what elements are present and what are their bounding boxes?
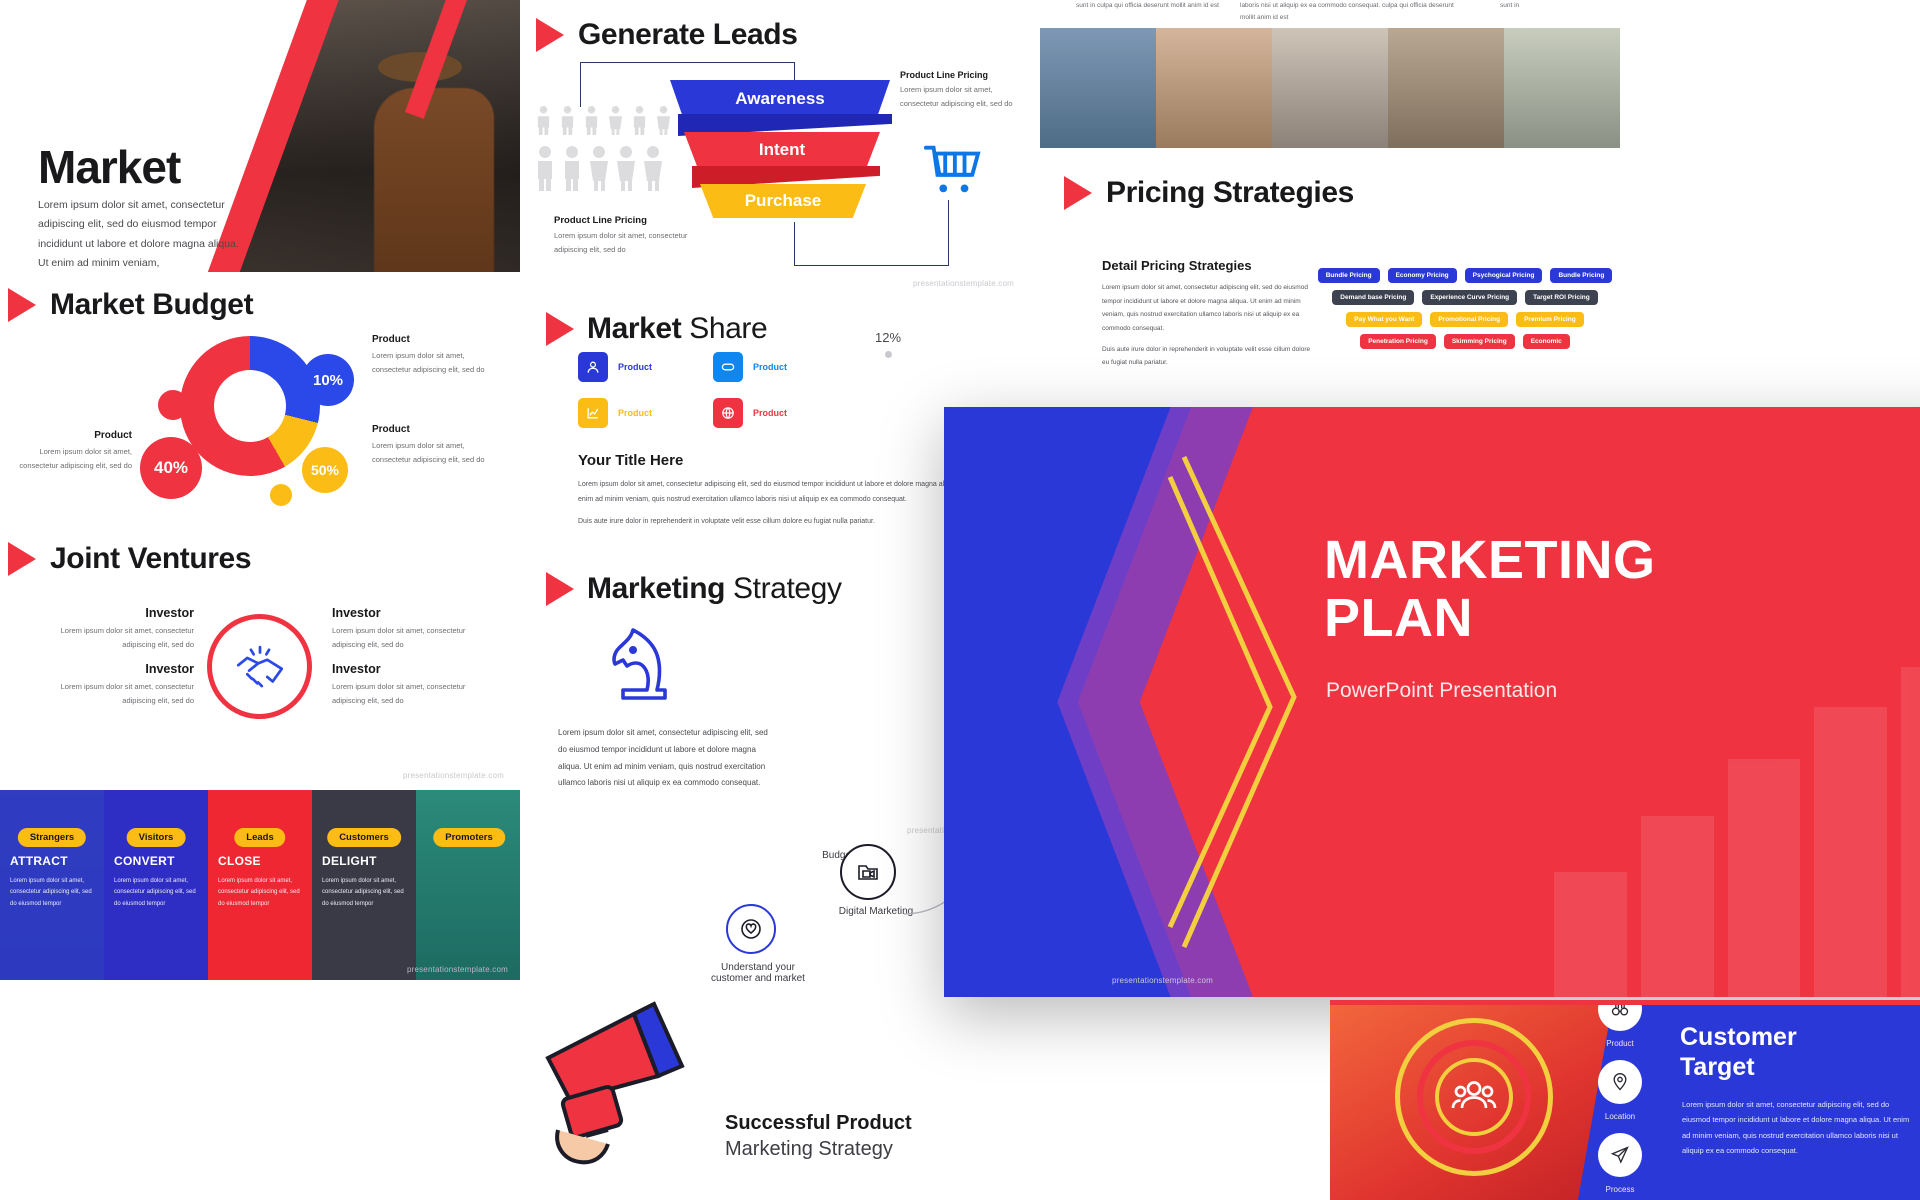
stage-body: Lorem ipsum dolor sit amet, consectetur … bbox=[114, 876, 200, 910]
connector-bottom-horizontal bbox=[794, 265, 949, 266]
leads-title: Generate Leads bbox=[578, 18, 798, 52]
globe-icon bbox=[713, 398, 743, 428]
paper-plane-icon bbox=[1598, 1133, 1642, 1177]
investor-1: Investor Lorem ipsum dolor sit amet, con… bbox=[42, 606, 194, 651]
pricing-tag-cloud: Bundle Pricing Economy Pricing Psychogic… bbox=[1320, 268, 1610, 356]
triangle-bullet-icon bbox=[1064, 176, 1092, 210]
slide-hero-marketing-plan[interactable]: MARKETING PLAN PowerPoint Presentation p… bbox=[944, 407, 1920, 997]
watermark: presentationstemplate.com bbox=[913, 279, 1014, 288]
product-item-1[interactable]: Product bbox=[578, 352, 713, 382]
lead-funnel-chart: Awareness Intent Purchase bbox=[670, 80, 890, 228]
budget-heading: Market Budget bbox=[8, 288, 253, 322]
strategy-heading: Marketing Strategy bbox=[546, 572, 842, 606]
legend-item-3: Product Lorem ipsum dolor sit amet, cons… bbox=[14, 430, 132, 472]
chart-icon bbox=[578, 398, 608, 428]
stage-body: Lorem ipsum dolor sit amet, consectetur … bbox=[10, 876, 96, 910]
funnel-col-2[interactable]: Visitors CONVERT Lorem ipsum dolor sit a… bbox=[104, 790, 208, 980]
investor-title: Investor bbox=[42, 606, 194, 620]
investor-title: Investor bbox=[332, 662, 484, 676]
pricing-tag[interactable]: Economy Pricing bbox=[1388, 268, 1457, 283]
funnel-col-5[interactable]: Promoters bbox=[416, 790, 522, 980]
template-collage: Market Lorem ipsum dolor sit amet, conse… bbox=[0, 0, 1920, 1200]
target-icon-label-2: Location bbox=[1580, 1112, 1660, 1121]
donut-ring bbox=[180, 336, 320, 476]
pricing-tag[interactable]: Bundle Pricing bbox=[1550, 268, 1612, 283]
col-tint bbox=[416, 790, 522, 980]
share-subtitle: Your Title Here bbox=[578, 452, 978, 469]
pricing-tag[interactable]: Premium Pricing bbox=[1516, 312, 1584, 327]
connector-cart-vertical bbox=[948, 200, 949, 266]
tag-icon bbox=[713, 352, 743, 382]
slide-pricing-strategies[interactable]: Pricing Strategies Detail Pricing Strate… bbox=[1040, 148, 1620, 418]
watermark: presentationstemplate.com bbox=[403, 771, 504, 780]
stage-pill[interactable]: Promoters bbox=[433, 828, 505, 847]
decor-dot-yellow-1 bbox=[270, 484, 292, 506]
chess-knight-icon bbox=[605, 622, 679, 719]
hero-title-line1: MARKETING bbox=[1324, 530, 1655, 590]
tag-row-1: Bundle Pricing Economy Pricing Psychogic… bbox=[1320, 268, 1610, 283]
pricing-tag[interactable]: Experience Curve Pricing bbox=[1422, 290, 1517, 305]
share-percent: 12% bbox=[875, 330, 901, 358]
share-paragraph-1: Lorem ipsum dolor sit amet, consectetur … bbox=[578, 478, 978, 507]
pricing-tag[interactable]: Pay What you Want bbox=[1346, 312, 1422, 327]
team-text-col-3: sunt in bbox=[1500, 0, 1600, 12]
stage-label: CLOSE bbox=[218, 854, 261, 868]
legend-item-2: Product Lorem ipsum dolor sit amet, cons… bbox=[372, 424, 502, 466]
leads-right-caption: Product Line Pricing Lorem ipsum dolor s… bbox=[900, 70, 1020, 110]
person-icon bbox=[642, 145, 664, 191]
shopping-cart-icon bbox=[920, 140, 982, 203]
triangle-bullet-icon bbox=[546, 572, 574, 606]
stage-pill[interactable]: Leads bbox=[234, 828, 285, 847]
detail-title: Detail Pricing Strategies bbox=[1102, 258, 1317, 273]
investor-body: Lorem ipsum dolor sit amet, consectetur … bbox=[42, 624, 194, 651]
person-icon bbox=[615, 145, 637, 191]
target-title-line2: Target bbox=[1680, 1053, 1755, 1081]
investor-4: Investor Lorem ipsum dolor sit amet, con… bbox=[332, 662, 484, 707]
share-paragraph-2: Duis aute irure dolor in reprehenderit i… bbox=[578, 515, 978, 530]
target-heart-icon bbox=[726, 904, 776, 954]
pricing-heading: Pricing Strategies bbox=[1064, 176, 1354, 210]
stage-body: Lorem ipsum dolor sit amet, consectetur … bbox=[218, 876, 304, 910]
strategy-title-bold: Marketing bbox=[587, 572, 725, 605]
share-title-bold: Market bbox=[587, 312, 681, 345]
people-target-icon bbox=[1388, 1011, 1546, 1169]
team-person-3 bbox=[1272, 28, 1388, 148]
tag-row-4: Penetration Pricing Skimming Pricing Eco… bbox=[1320, 334, 1610, 349]
hero-title-line2: PLAN bbox=[1324, 588, 1473, 648]
person-icon bbox=[534, 145, 556, 191]
share-percent-value: 12% bbox=[875, 330, 901, 345]
stage-body: Lorem ipsum dolor sit amet, consectetur … bbox=[322, 876, 408, 910]
donut-value-blue: 10% bbox=[302, 354, 354, 406]
percent-dot-marker bbox=[885, 351, 892, 358]
detail-paragraph-2: Duis aute irure dolor in reprehenderit i… bbox=[1102, 343, 1317, 370]
pricing-tag[interactable]: Economic bbox=[1523, 334, 1570, 349]
legend-item-1: Product Lorem ipsum dolor sit amet, cons… bbox=[372, 334, 502, 376]
caption-body: Lorem ipsum dolor sit amet, consectetur … bbox=[900, 83, 1020, 110]
stage-pill[interactable]: Visitors bbox=[127, 828, 186, 847]
target-title: Customer Target bbox=[1680, 1023, 1797, 1082]
page-title: Market bbox=[38, 140, 180, 194]
stage-pill[interactable]: Strangers bbox=[18, 828, 86, 847]
funnel-label-awareness: Awareness bbox=[670, 80, 890, 118]
market-body: Lorem ipsum dolor sit amet, consectetur … bbox=[38, 196, 248, 274]
pricing-detail-block: Detail Pricing Strategies Lorem ipsum do… bbox=[1102, 258, 1317, 377]
megaphone-icon bbox=[530, 980, 708, 1175]
triangle-bullet-icon bbox=[8, 288, 36, 322]
tag-row-2: Demand base Pricing Experience Curve Pri… bbox=[1320, 290, 1610, 305]
target-icon-label-1: Product bbox=[1580, 1039, 1660, 1048]
legend-title: Product bbox=[14, 430, 132, 441]
pricing-tag[interactable]: Psychogical Pricing bbox=[1465, 268, 1543, 283]
jv-heading: Joint Ventures bbox=[8, 542, 251, 576]
tag-row-3: Pay What you Want Promotional Pricing Pr… bbox=[1320, 312, 1610, 327]
product-label: Product bbox=[753, 362, 787, 372]
legend-body: Lorem ipsum dolor sit amet, consectetur … bbox=[372, 349, 502, 376]
caption-title: Product Line Pricing bbox=[900, 70, 1020, 80]
person-icon bbox=[606, 105, 625, 135]
map-pin-icon bbox=[1598, 1060, 1642, 1104]
target-title-line1: Customer bbox=[1680, 1023, 1797, 1051]
team-person-1 bbox=[1040, 28, 1156, 148]
funnel-col-3[interactable]: Leads CLOSE Lorem ipsum dolor sit amet, … bbox=[208, 790, 312, 980]
product-item-2[interactable]: Product bbox=[713, 352, 848, 382]
strategy-title-light: Strategy bbox=[733, 572, 842, 605]
team-person-5 bbox=[1504, 28, 1620, 148]
team-text-col-2: laboris nisi ut aliquip ex ea commodo co… bbox=[1240, 0, 1470, 25]
person-icon bbox=[534, 105, 553, 135]
person-icon bbox=[582, 105, 601, 135]
chevron-line-icon-2 bbox=[1130, 467, 1310, 947]
product-item-3[interactable]: Product bbox=[578, 398, 713, 428]
strategy-body: Lorem ipsum dolor sit amet, consectetur … bbox=[558, 725, 773, 792]
team-photo bbox=[1040, 28, 1620, 148]
donut-value-yellow: 50% bbox=[302, 447, 348, 493]
slide-customer-target[interactable]: Product Location Process Customer Target… bbox=[1330, 1005, 1920, 1200]
watermark: presentationstemplate.com bbox=[407, 965, 508, 974]
hero-subtitle: PowerPoint Presentation bbox=[1326, 679, 1557, 703]
triangle-bullet-icon bbox=[546, 312, 574, 346]
slide-generate-leads[interactable]: Generate Leads bbox=[520, 0, 1030, 300]
investor-body: Lorem ipsum dolor sit amet, consectetur … bbox=[332, 680, 484, 707]
funnel-col-1[interactable]: Strangers ATTRACT Lorem ipsum dolor sit … bbox=[0, 790, 104, 980]
success-title-light: Marketing Strategy bbox=[725, 1138, 893, 1161]
handshake-icon bbox=[207, 614, 312, 719]
investor-body: Lorem ipsum dolor sit amet, consectetur … bbox=[332, 624, 484, 651]
budget-donut-chart: 10% 50% 40% bbox=[120, 342, 410, 507]
legend-body: Lorem ipsum dolor sit amet, consectetur … bbox=[14, 445, 132, 472]
watermark: presentationstemplate.com bbox=[1112, 976, 1213, 985]
photo-coat bbox=[374, 88, 494, 288]
connector-bottom-vertical bbox=[794, 222, 795, 266]
donut-value-red: 40% bbox=[140, 437, 202, 499]
slide-market-budget[interactable]: Market Budget 10% 50% 40% Product Lorem … bbox=[0, 272, 522, 522]
leads-heading: Generate Leads bbox=[536, 18, 798, 52]
investor-body: Lorem ipsum dolor sit amet, consectetur … bbox=[42, 680, 194, 707]
funnel-col-4[interactable]: Customers DELIGHT Lorem ipsum dolor sit … bbox=[312, 790, 416, 980]
jv-title: Joint Ventures bbox=[50, 542, 251, 576]
user-icon bbox=[578, 352, 608, 382]
triangle-bullet-icon bbox=[536, 18, 564, 52]
share-title-light: Share bbox=[689, 312, 767, 345]
stage-label: DELIGHT bbox=[322, 854, 377, 868]
connector-left-vertical bbox=[580, 62, 581, 107]
share-text-block: Your Title Here Lorem ipsum dolor sit am… bbox=[578, 452, 978, 538]
team-text-col-1: sunt in culpa qui officia deserunt molli… bbox=[1076, 0, 1226, 12]
stage-label: CONVERT bbox=[114, 854, 175, 868]
investor-2: Investor Lorem ipsum dolor sit amet, con… bbox=[42, 662, 194, 707]
share-heading: Market Share bbox=[546, 312, 767, 346]
node-label-1: Understand your customer and market bbox=[706, 962, 810, 984]
binoculars-icon bbox=[1598, 1005, 1642, 1031]
team-person-4 bbox=[1388, 28, 1504, 148]
pricing-tag[interactable]: Penetration Pricing bbox=[1360, 334, 1436, 349]
budget-title: Market Budget bbox=[50, 288, 253, 322]
pricing-tag[interactable]: Skimming Pricing bbox=[1444, 334, 1515, 349]
target-body: Lorem ipsum dolor sit amet, consectetur … bbox=[1682, 1097, 1912, 1159]
person-icon bbox=[561, 145, 583, 191]
share-product-grid: Product Product Product Product bbox=[578, 352, 848, 428]
product-label: Product bbox=[753, 408, 787, 418]
slide-attract-convert[interactable]: Strangers ATTRACT Lorem ipsum dolor sit … bbox=[0, 790, 522, 980]
legend-body: Lorem ipsum dolor sit amet, consectetur … bbox=[372, 439, 502, 466]
target-icon-column: Product Location Process bbox=[1580, 1005, 1660, 1200]
person-icon bbox=[630, 105, 649, 135]
slide-market[interactable]: Market Lorem ipsum dolor sit amet, conse… bbox=[0, 0, 522, 288]
pricing-title: Pricing Strategies bbox=[1106, 176, 1354, 210]
team-person-2 bbox=[1156, 28, 1272, 148]
investor-title: Investor bbox=[42, 662, 194, 676]
pricing-tag[interactable]: Promotional Pricing bbox=[1430, 312, 1508, 327]
investor-title: Investor bbox=[332, 606, 484, 620]
legend-title: Product bbox=[372, 424, 502, 435]
product-item-4[interactable]: Product bbox=[713, 398, 848, 428]
person-icon bbox=[588, 145, 610, 191]
hero-title: MARKETING PLAN bbox=[1324, 531, 1655, 648]
target-icon-label-3: Process bbox=[1580, 1185, 1660, 1194]
product-label: Product bbox=[618, 362, 652, 372]
success-title-bold: Successful Product bbox=[725, 1112, 912, 1135]
pricing-tag[interactable]: Bundle Pricing bbox=[1318, 268, 1380, 283]
stage-pill[interactable]: Customers bbox=[327, 828, 401, 847]
slide-joint-ventures[interactable]: Joint Ventures Investor Lorem ipsum dolo… bbox=[0, 522, 522, 790]
legend-title: Product bbox=[372, 334, 502, 345]
pricing-tag[interactable]: Demand base Pricing bbox=[1332, 290, 1414, 305]
connector-top-horizontal bbox=[580, 62, 795, 63]
funnel-label-intent: Intent bbox=[684, 132, 880, 168]
hero-bar-decoration bbox=[1554, 667, 1920, 997]
triangle-bullet-icon bbox=[8, 542, 36, 576]
product-label: Product bbox=[618, 408, 652, 418]
funnel-label-purchase: Purchase bbox=[700, 184, 866, 218]
video-folder-icon bbox=[840, 844, 896, 900]
pricing-tag[interactable]: Target ROI Pricing bbox=[1525, 290, 1598, 305]
investor-3: Investor Lorem ipsum dolor sit amet, con… bbox=[332, 606, 484, 651]
stage-label: ATTRACT bbox=[10, 854, 68, 868]
person-icon bbox=[558, 105, 577, 135]
caption-body: Lorem ipsum dolor sit amet, consectetur … bbox=[554, 229, 704, 256]
detail-paragraph-1: Lorem ipsum dolor sit amet, consectetur … bbox=[1102, 281, 1317, 336]
